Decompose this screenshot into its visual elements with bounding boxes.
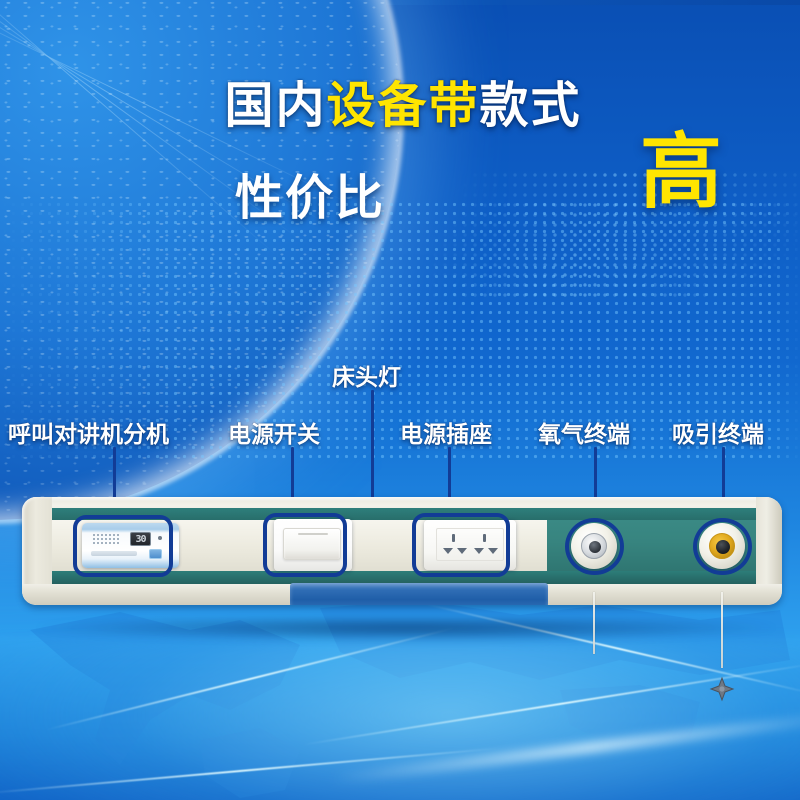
highlight-circle-oxygen — [565, 518, 624, 575]
callout-label-power-switch: 电源开关 — [228, 415, 320, 449]
highlight-box-power-socket — [412, 513, 510, 577]
banner-stage: 国内设备带款式 性价比 高 呼叫对讲机分机 电源开关 床头灯 电源插座 氧气终端… — [0, 0, 800, 800]
oxygen-pull-cord — [593, 592, 595, 654]
callout-label-oxygen-outlet: 氧气终端 — [538, 415, 630, 449]
highlight-circle-suction — [693, 518, 752, 575]
cord-connector-icon — [709, 676, 735, 702]
highlight-box-power-switch — [263, 513, 347, 577]
callout-label-intercom: 呼叫对讲机分机 — [8, 415, 169, 449]
callout-label-bed-lamp: 床头灯 — [332, 358, 401, 392]
callout-layer: 呼叫对讲机分机 电源开关 床头灯 电源插座 氧气终端 吸引终端 — [0, 0, 800, 800]
bed-lamp-diffuser[interactable] — [290, 583, 548, 605]
highlight-box-intercom — [73, 515, 173, 577]
suction-pull-cord — [721, 592, 723, 668]
callout-label-suction-outlet: 吸引终端 — [672, 415, 764, 449]
bed-head-unit-shadow — [36, 619, 776, 641]
callout-label-power-socket: 电源插座 — [400, 415, 492, 449]
